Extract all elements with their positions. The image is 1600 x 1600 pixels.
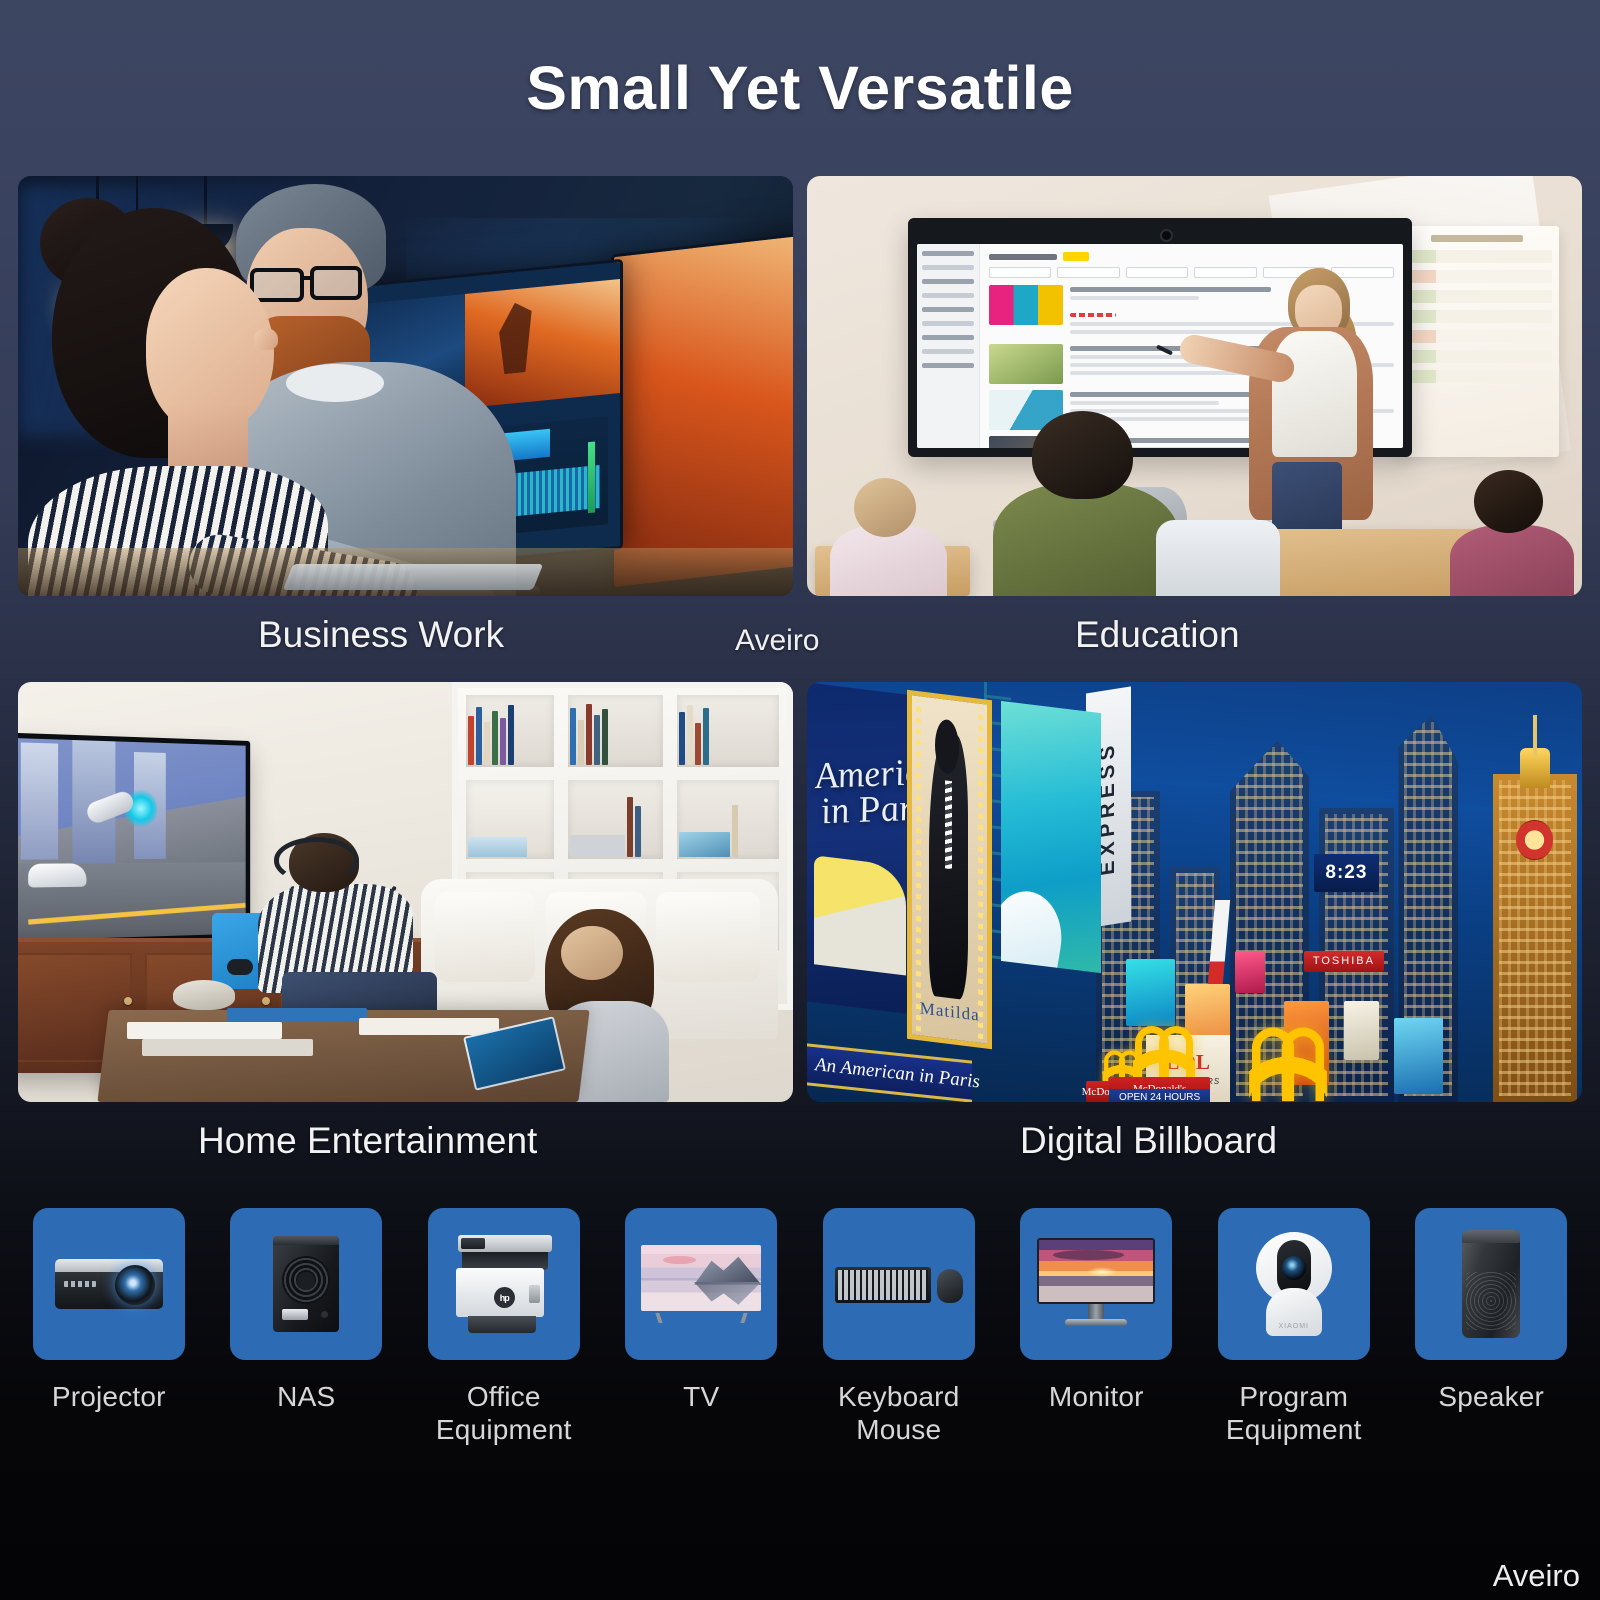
device-label-program-equipment: ProgramEquipment xyxy=(1226,1380,1362,1446)
girl-right-body xyxy=(1450,525,1574,596)
printer-icon: hp xyxy=(456,1235,552,1333)
watermark-top: Aveiro xyxy=(735,624,820,658)
caption-business-work: Business Work xyxy=(258,614,504,656)
nas-icon xyxy=(273,1236,339,1332)
paris-marquee-banner: An American in Paris xyxy=(807,1043,972,1102)
tv-icon xyxy=(641,1245,761,1323)
device-cell-program-equipment[interactable]: XIAOMI ProgramEquipment xyxy=(1203,1208,1385,1446)
clock-time-text: 8:23 xyxy=(1325,862,1367,884)
headphones-icon xyxy=(274,837,359,883)
education-photo xyxy=(807,176,1582,596)
keyboard xyxy=(283,564,544,590)
device-label-nas: NAS xyxy=(277,1380,335,1413)
wall-poster xyxy=(1396,226,1559,457)
girl-head xyxy=(561,926,623,981)
device-tile-speaker[interactable] xyxy=(1415,1208,1567,1360)
header: Small Yet Versatile xyxy=(0,0,1600,176)
device-tile-nas[interactable] xyxy=(230,1208,382,1360)
secondary-monitor xyxy=(611,232,793,591)
glasses-icon xyxy=(310,266,362,300)
security-camera-icon: XIAOMI xyxy=(1252,1232,1336,1336)
caption-row-bottom: Home Entertainment Digital Billboard xyxy=(0,1102,1600,1188)
scene-panel-digital-billboard[interactable]: EXPRESS 8:23 TOSHIBA LOL IN 400 YEARS xyxy=(807,682,1582,1102)
device-label-office-equipment: OfficeEquipment xyxy=(436,1380,572,1446)
caption-education: Education xyxy=(1075,614,1240,656)
girl-right-head xyxy=(1474,470,1544,533)
device-tile-monitor[interactable] xyxy=(1020,1208,1172,1360)
paris-couple-art xyxy=(814,856,906,976)
projector-icon xyxy=(55,1259,163,1309)
girl-left-head xyxy=(854,478,916,537)
device-label-projector: Projector xyxy=(52,1380,166,1413)
business-work-photo xyxy=(18,176,793,596)
device-tile-office-equipment[interactable]: hp xyxy=(428,1208,580,1360)
page-title: Small Yet Versatile xyxy=(526,53,1074,123)
glasses-bridge xyxy=(302,276,314,280)
stacked-books xyxy=(227,1008,367,1023)
device-label-keyboard-mouse: KeyboardMouse xyxy=(838,1380,959,1446)
board-badge xyxy=(1063,252,1089,261)
smart-speaker-icon xyxy=(1462,1230,1520,1338)
glasses-icon xyxy=(250,268,304,302)
device-tile-program-equipment[interactable]: XIAOMI xyxy=(1218,1208,1370,1360)
ocean-led-screen xyxy=(1001,701,1101,974)
device-cell-office-equipment[interactable]: hp OfficeEquipment xyxy=(413,1208,595,1446)
device-cell-tv[interactable]: TV xyxy=(611,1208,793,1446)
boy-shirt xyxy=(993,483,1179,596)
plant-bowl xyxy=(173,980,235,1009)
toshiba-sign-text: TOSHIBA xyxy=(1313,955,1375,967)
stacked-books xyxy=(142,1039,313,1056)
stacked-books xyxy=(359,1018,499,1035)
scene-grid-bottom: EXPRESS 8:23 TOSHIBA LOL IN 400 YEARS xyxy=(0,682,1600,1102)
toshiba-sign: TOSHIBA xyxy=(1304,951,1383,972)
caption-row-top: Business Work Aveiro Education xyxy=(0,596,1600,682)
caption-digital-billboard: Digital Billboard xyxy=(1020,1120,1277,1162)
racing-car-icon xyxy=(29,863,87,888)
caption-home-entertainment: Home Entertainment xyxy=(198,1120,537,1162)
matilda-ad: Matilda xyxy=(907,689,992,1048)
home-entertainment-photo xyxy=(18,682,793,1102)
device-tile-keyboard-mouse[interactable] xyxy=(823,1208,975,1360)
device-label-tv: TV xyxy=(683,1380,719,1413)
device-tile-tv[interactable] xyxy=(625,1208,777,1360)
clock-face-icon xyxy=(1516,820,1553,859)
teacher-blouse xyxy=(1272,331,1357,457)
device-label-speaker: Speaker xyxy=(1438,1380,1544,1413)
billboard-wall: Americanin Paris Matilda An American in … xyxy=(807,682,1102,1102)
board-sidebar xyxy=(917,244,980,448)
classroom-chair xyxy=(1156,520,1280,596)
printer-brand-logo: hp xyxy=(494,1287,515,1308)
man-collar xyxy=(286,364,384,402)
board-camera-icon xyxy=(1160,229,1173,242)
device-cell-nas[interactable]: NAS xyxy=(216,1208,398,1446)
stacked-books xyxy=(127,1022,282,1039)
scene-grid-top xyxy=(0,176,1600,596)
device-cell-speaker[interactable]: Speaker xyxy=(1401,1208,1583,1446)
digital-clock-sign: 8:23 xyxy=(1314,854,1378,892)
scene-panel-home-entertainment[interactable] xyxy=(18,682,793,1102)
boy-head xyxy=(1032,411,1133,499)
scene-panel-business-work[interactable] xyxy=(18,176,793,596)
monitor-icon xyxy=(1037,1238,1155,1330)
game-controller-icon xyxy=(227,959,253,975)
watermark-bottom: Aveiro xyxy=(1493,1558,1580,1594)
scene-panel-education[interactable] xyxy=(807,176,1582,596)
mcdonalds-arches-icon xyxy=(1249,1028,1327,1101)
keyboard-mouse-icon xyxy=(835,1261,963,1307)
device-cell-keyboard-mouse[interactable]: KeyboardMouse xyxy=(808,1208,990,1446)
clock-tower xyxy=(1493,774,1577,1102)
device-label-monitor: Monitor xyxy=(1049,1380,1144,1413)
tv-screen xyxy=(18,738,246,941)
paris-banner-text: An American in Paris xyxy=(815,1054,980,1093)
woman-nose xyxy=(254,328,278,350)
digital-billboard-photo: EXPRESS 8:23 TOSHIBA LOL IN 400 YEARS xyxy=(807,682,1582,1102)
device-tile-projector[interactable] xyxy=(33,1208,185,1360)
matilda-tie xyxy=(945,780,952,869)
device-cell-monitor[interactable]: Monitor xyxy=(1006,1208,1188,1446)
mcdonalds-hours-sign: OPEN 24 HOURS xyxy=(1109,1089,1210,1102)
device-cell-projector[interactable]: Projector xyxy=(18,1208,200,1446)
pendant-lamp-icon xyxy=(204,176,207,228)
device-tile-row: Projector NAS hp OfficeEquipment xyxy=(0,1188,1600,1446)
